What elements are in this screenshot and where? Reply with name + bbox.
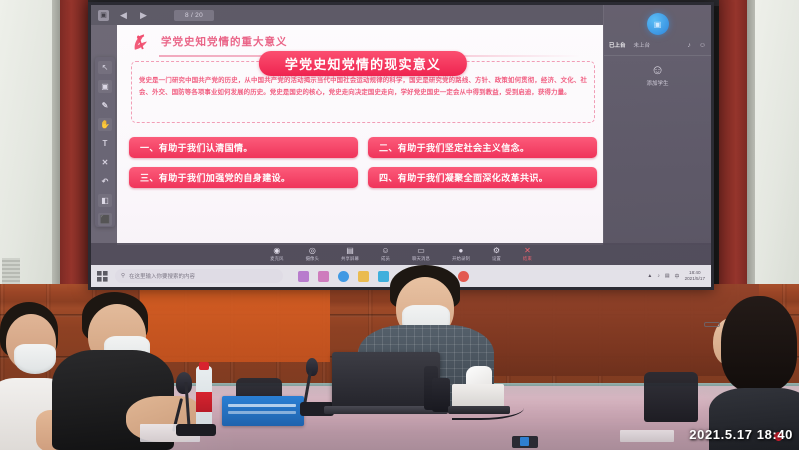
screenshot-root: ➔ ▣ ◀ ▶ 8 / 20 ↖ ▣ ✎ ✋ T ✕ ↶ xyxy=(0,0,799,450)
add-user-icon: ☺ xyxy=(651,63,664,76)
mic-control[interactable]: ◉ 麦克风 xyxy=(270,247,283,262)
slide-main-title: 学党史知党情的现实意义 xyxy=(259,51,467,76)
slide-points-grid: 一、有助于我们认清国情。 二、有助于我们坚定社会主义信念。 三、有助于我们加强党… xyxy=(129,137,597,188)
participant-tabs[interactable]: 已上台 未上台 ♪ ☺ xyxy=(604,38,711,52)
wall-right xyxy=(755,0,799,300)
timestamp-watermark: 2021.5.17 18:40 xyxy=(689,427,793,442)
ppt-navigation-bar[interactable]: ▣ ◀ ▶ 8 / 20 xyxy=(91,5,609,25)
wall-edge-right xyxy=(747,0,755,300)
blue-desk-nameplate xyxy=(222,396,304,426)
hair xyxy=(721,296,797,392)
system-tray[interactable]: ▲ ♪ ▤ 中 18:40 2021/5/17 xyxy=(647,270,705,281)
taskbar-clock[interactable]: 18:40 2021/5/17 xyxy=(685,270,705,281)
members-label: 成员 xyxy=(381,256,390,262)
slide-header-title: 学党史知党情的重大意义 xyxy=(161,34,288,49)
record-icon: ● xyxy=(459,247,464,255)
members-icon: ☺ xyxy=(381,247,389,255)
add-student-label: 添加学生 xyxy=(646,79,668,87)
tab-on-stage[interactable]: 已上台 xyxy=(609,41,626,49)
wood-column-right xyxy=(719,0,747,300)
meeting-participants-panel: ▣ 已上台 未上台 ♪ ☺ ☺ 添加学生 xyxy=(603,5,711,245)
slide-body-text: 党史是一门研究中国共产党的历史，从中国共产党的活动揭示当代中国社会运动规律的科学… xyxy=(139,75,587,98)
mic-icon: ◉ xyxy=(273,247,280,255)
face-mask xyxy=(14,344,56,374)
wall-left xyxy=(0,0,52,300)
mute-all-icon[interactable]: ♪ xyxy=(687,42,691,49)
chair-back-right xyxy=(644,372,698,422)
meeting-control-bar[interactable]: ◉ 麦克风 ◎ 摄像头 ▤ 共享屏幕 ☺ 成员 ▭ 聊天消息 xyxy=(91,243,711,265)
add-student-button[interactable]: ☺ 添加学生 xyxy=(646,63,668,87)
annotation-tool-rail[interactable]: ↖ ▣ ✎ ✋ T ✕ ↶ ◧ ⬛ xyxy=(95,57,115,227)
hammer-and-sickle-emblem xyxy=(131,31,153,53)
camera-icon: ◎ xyxy=(309,247,316,255)
presentation-slide: 学党史知党情的重大意义 学党史知党情的现实意义 党史是一门研究中国共产党的历史，… xyxy=(117,25,609,245)
pen-icon[interactable]: ✎ xyxy=(98,99,112,112)
share-screen-label: 共享屏幕 xyxy=(341,256,359,262)
search-placeholder: 在这里输入你要搜索的内容 xyxy=(129,272,195,280)
settings-control[interactable]: ⚙ 设置 xyxy=(492,247,501,262)
wood-column-left xyxy=(60,0,88,300)
leave-meeting-control[interactable]: ✕ 结束 xyxy=(523,247,532,262)
tray-ime-icon[interactable]: 中 xyxy=(675,273,680,280)
slide-point-1: 一、有助于我们认清国情。 xyxy=(129,137,358,158)
leave-icon: ✕ xyxy=(524,247,531,255)
avatar[interactable]: ▣ xyxy=(647,13,669,35)
tray-chevron-icon[interactable]: ▲ xyxy=(647,273,652,279)
people-icon[interactable]: ☺ xyxy=(699,42,706,49)
undo-icon[interactable]: ↶ xyxy=(98,175,112,188)
microphone-base xyxy=(176,424,216,436)
chat-label: 聊天消息 xyxy=(412,256,430,262)
wall-edge-left xyxy=(52,0,60,300)
record-label: 开始录制 xyxy=(452,256,470,262)
mic-label: 麦克风 xyxy=(270,256,283,262)
record-control[interactable]: ● 开始录制 xyxy=(452,247,470,262)
page-counter: 8 / 20 xyxy=(174,10,214,21)
gear-icon: ⚙ xyxy=(493,247,500,255)
slide-point-3: 三、有助于我们加强党的自身建设。 xyxy=(129,167,358,188)
chat-icon: ▭ xyxy=(417,247,425,255)
search-icon: ⚲ xyxy=(121,273,125,279)
slide-point-2: 二、有助于我们坚定社会主义信念。 xyxy=(368,137,597,158)
camera-label: 摄像头 xyxy=(306,256,319,262)
share-screen-icon: ▤ xyxy=(346,247,354,255)
tab-off-stage[interactable]: 未上台 xyxy=(634,41,651,49)
windows-start-button[interactable] xyxy=(97,271,108,282)
prev-slide-icon[interactable]: ◀ xyxy=(118,10,129,21)
clock-date: 2021/5/17 xyxy=(685,276,705,281)
clock-time: 18:40 xyxy=(689,270,701,275)
slide-point-4: 四、有助于我们凝聚全面深化改革共识。 xyxy=(368,167,597,188)
hand-icon[interactable]: ✋ xyxy=(98,118,112,131)
bottle-label xyxy=(196,392,212,412)
leave-label: 结束 xyxy=(523,256,532,262)
eraser-icon[interactable]: ◧ xyxy=(98,194,112,207)
text-icon[interactable]: T xyxy=(98,137,112,150)
edge-browser-icon[interactable] xyxy=(338,271,349,282)
camera-control[interactable]: ◎ 摄像头 xyxy=(306,247,319,262)
projection-screen: ▣ ◀ ▶ 8 / 20 ↖ ▣ ✎ ✋ T ✕ ↶ ◧ ⬛ xyxy=(88,2,714,290)
share-screen-control[interactable]: ▤ 共享屏幕 xyxy=(341,247,359,262)
next-slide-icon[interactable]: ▶ xyxy=(138,10,149,21)
close-icon[interactable]: ✕ xyxy=(98,156,112,169)
tray-volume-icon[interactable]: ♪ xyxy=(657,273,660,279)
save-icon[interactable]: ⬛ xyxy=(98,213,112,226)
cortana-icon[interactable] xyxy=(318,271,329,282)
phone-screen xyxy=(520,437,529,446)
tray-network-icon[interactable]: ▤ xyxy=(665,273,670,279)
shape-icon[interactable]: ▣ xyxy=(98,80,112,93)
members-control[interactable]: ☺ 成员 xyxy=(381,247,390,262)
settings-label: 设置 xyxy=(492,256,501,262)
search-input[interactable]: ⚲ 在这里输入你要搜索的内容 xyxy=(115,269,283,283)
screen-content: ▣ ◀ ▶ 8 / 20 ↖ ▣ ✎ ✋ T ✕ ↶ ◧ ⬛ xyxy=(91,5,711,287)
papers xyxy=(620,430,674,442)
glasses xyxy=(704,322,720,327)
chat-control[interactable]: ▭ 聊天消息 xyxy=(412,247,430,262)
present-mode-icon[interactable]: ▣ xyxy=(98,10,109,21)
bottle-cap xyxy=(199,362,209,370)
task-view-icon[interactable] xyxy=(298,271,309,282)
cursor-icon[interactable]: ↖ xyxy=(98,61,112,74)
panel-divider xyxy=(604,55,711,56)
